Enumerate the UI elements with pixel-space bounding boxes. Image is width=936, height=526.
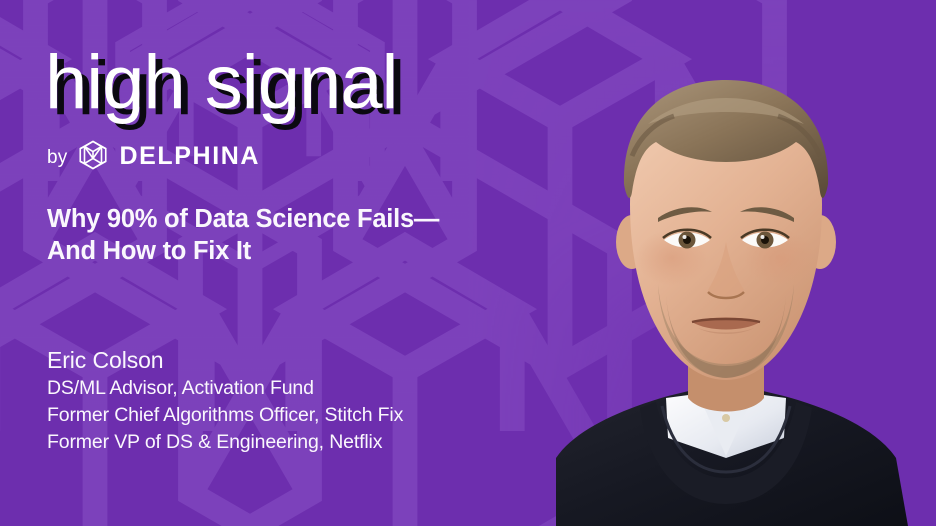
- episode-title: Why 90% of Data Science Fails— And How t…: [47, 203, 517, 267]
- speaker-name: Eric Colson: [47, 345, 517, 375]
- delphina-byline: by: [47, 138, 260, 172]
- slide-content: high signal high signal high signal by: [45, 0, 535, 526]
- episode-title-line-2: And How to Fix It: [47, 235, 517, 267]
- speaker-role-1: DS/ML Advisor, Activation Fund: [47, 375, 517, 402]
- speaker-role-2: Former Chief Algorithms Officer, Stitch …: [47, 402, 517, 429]
- speaker-role-3: Former VP of DS & Engineering, Netflix: [47, 429, 517, 456]
- delphina-wordmark: DELPHINA: [119, 144, 260, 169]
- svg-text:high signal: high signal: [45, 40, 397, 125]
- by-label: by: [47, 148, 67, 167]
- speaker-block: Eric Colson DS/ML Advisor, Activation Fu…: [47, 345, 517, 456]
- cube-wireframe-icon: [76, 138, 110, 172]
- podcast-episode-slide: high signal high signal high signal by: [0, 0, 936, 526]
- episode-title-line-1: Why 90% of Data Science Fails—: [47, 203, 517, 235]
- speaker-photo: [516, 46, 936, 526]
- high-signal-wordmark: high signal high signal high signal: [45, 42, 445, 142]
